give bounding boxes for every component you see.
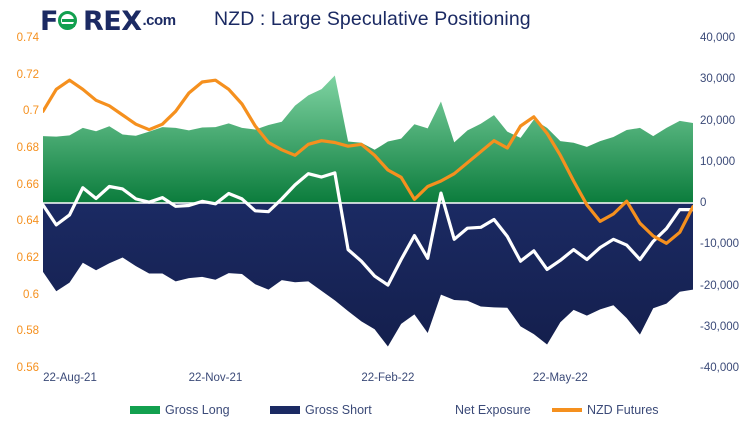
chart-svg: [43, 38, 693, 368]
left-axis-tick-label: 0.74: [17, 32, 39, 44]
left-axis-tick-label: 0.72: [17, 69, 39, 81]
right-axis-tick-label: -40,000: [700, 362, 739, 374]
legend-item-gross-long[interactable]: Gross Long: [130, 398, 230, 422]
right-axis-tick-label: 20,000: [700, 115, 735, 127]
left-axis-tick-label: 0.64: [17, 215, 39, 227]
legend-swatch-gross-long: [130, 406, 160, 414]
series-area-gross-long: [43, 76, 693, 203]
right-axis-tick-label: -30,000: [700, 321, 739, 333]
logo-letter-f: F: [40, 6, 58, 37]
x-axis-tick-label: 22-Aug-21: [43, 372, 97, 384]
chart-header: F REX .com NZD : Large Speculative Posit…: [0, 0, 749, 42]
right-axis-tick-label: 30,000: [700, 73, 735, 85]
legend-swatch-net-exposure: [420, 406, 450, 414]
left-axis-tick-label: 0.6: [23, 289, 39, 301]
legend-label: Gross Short: [305, 403, 372, 417]
legend-label: NZD Futures: [587, 403, 659, 417]
legend-item-nzd-futures[interactable]: NZD Futures: [552, 398, 659, 422]
x-axis-tick-label: 22-Feb-22: [361, 372, 414, 384]
legend-swatch-gross-short: [270, 406, 300, 414]
left-axis-tick-label: 0.66: [17, 179, 39, 191]
left-axis-tick-label: 0.7: [23, 105, 39, 117]
legend-item-net-exposure[interactable]: Net Exposure: [420, 398, 531, 422]
series-area-gross-short: [43, 203, 693, 347]
forex-euro-globe-icon: [58, 9, 83, 34]
logo-dotcom: .com: [143, 12, 176, 31]
chart-legend: Gross LongGross ShortNet ExposureNZD Fut…: [0, 398, 749, 422]
left-axis-tick-label: 0.68: [17, 142, 39, 154]
left-axis-tick-label: 0.58: [17, 325, 39, 337]
right-axis-tick-label: 10,000: [700, 156, 735, 168]
left-axis-tick-label: 0.62: [17, 252, 39, 264]
chart-page: F REX .com NZD : Large Speculative Posit…: [0, 0, 749, 424]
legend-label: Net Exposure: [455, 403, 531, 417]
left-axis-tick-label: 0.56: [17, 362, 39, 374]
right-axis-tick-label: -20,000: [700, 280, 739, 292]
right-axis-tick-label: 0: [700, 197, 706, 209]
chart-plot-area: [43, 38, 693, 368]
right-axis-tick-label: 40,000: [700, 32, 735, 44]
forex-com-logo: F REX .com: [40, 8, 176, 34]
legend-label: Gross Long: [165, 403, 230, 417]
logo-letters-rex: REX: [83, 6, 142, 37]
legend-item-gross-short[interactable]: Gross Short: [270, 398, 372, 422]
right-axis-tick-label: -10,000: [700, 238, 739, 250]
left-axis-nzd-price: 0.740.720.70.680.660.640.620.60.580.56: [0, 0, 39, 424]
right-axis-contracts: 40,00030,00020,00010,0000-10,000-20,000-…: [700, 0, 749, 424]
x-axis-tick-label: 22-Nov-21: [189, 372, 243, 384]
page-title: NZD : Large Speculative Positioning: [214, 8, 531, 31]
legend-swatch-nzd-futures: [552, 408, 582, 412]
x-axis-tick-label: 22-May-22: [533, 372, 588, 384]
